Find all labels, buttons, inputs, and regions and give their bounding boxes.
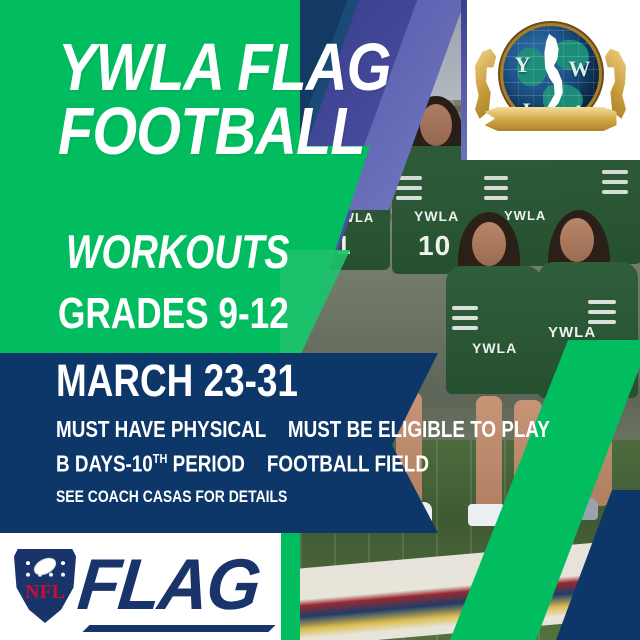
poster-location: FOOTBALL FIELD xyxy=(267,451,429,477)
poster-headline: YWLA FLAG FOOTBALL xyxy=(58,36,391,165)
requirement-eligible: MUST BE ELIGIBLE TO PLAY xyxy=(288,416,550,442)
flyer-poster: YWLA 1 YWLA 10 YWLA xyxy=(0,0,640,640)
requirement-physical: MUST HAVE PHYSICAL xyxy=(56,416,266,442)
poster-subhead: WORKOUTS xyxy=(66,228,290,275)
poster-schedule-line: B DAYS-10TH PERIOD FOOTBALL FIELD xyxy=(56,452,429,476)
flag-underline-accent xyxy=(83,625,276,632)
headline-line-2: FOOTBALL xyxy=(58,100,391,164)
nfl-flag-logo: NFL FLAG xyxy=(0,533,281,640)
logo-left-edge xyxy=(461,0,467,160)
poster-grades: GRADES 9-12 xyxy=(58,292,289,336)
schedule-days: B DAYS-10 xyxy=(56,451,153,477)
ywla-logo: Y W L A xyxy=(461,0,640,160)
logo-letter-w: W xyxy=(569,56,591,82)
poster-dates: MARCH 23-31 xyxy=(56,358,298,403)
logo-letter-y: Y xyxy=(515,52,531,78)
nfl-shield-text: NFL xyxy=(14,581,76,604)
gold-ribbon-icon xyxy=(485,106,617,132)
poster-requirements-line: MUST HAVE PHYSICAL MUST BE ELIGIBLE TO P… xyxy=(56,418,550,441)
schedule-ordinal-suffix: TH xyxy=(153,451,168,466)
schedule-period: PERIOD xyxy=(167,451,245,477)
poster-contact: SEE COACH CASAS FOR DETAILS xyxy=(56,488,287,505)
flag-wordmark: FLAG xyxy=(75,549,263,621)
nfl-shield-icon: NFL xyxy=(14,549,76,623)
